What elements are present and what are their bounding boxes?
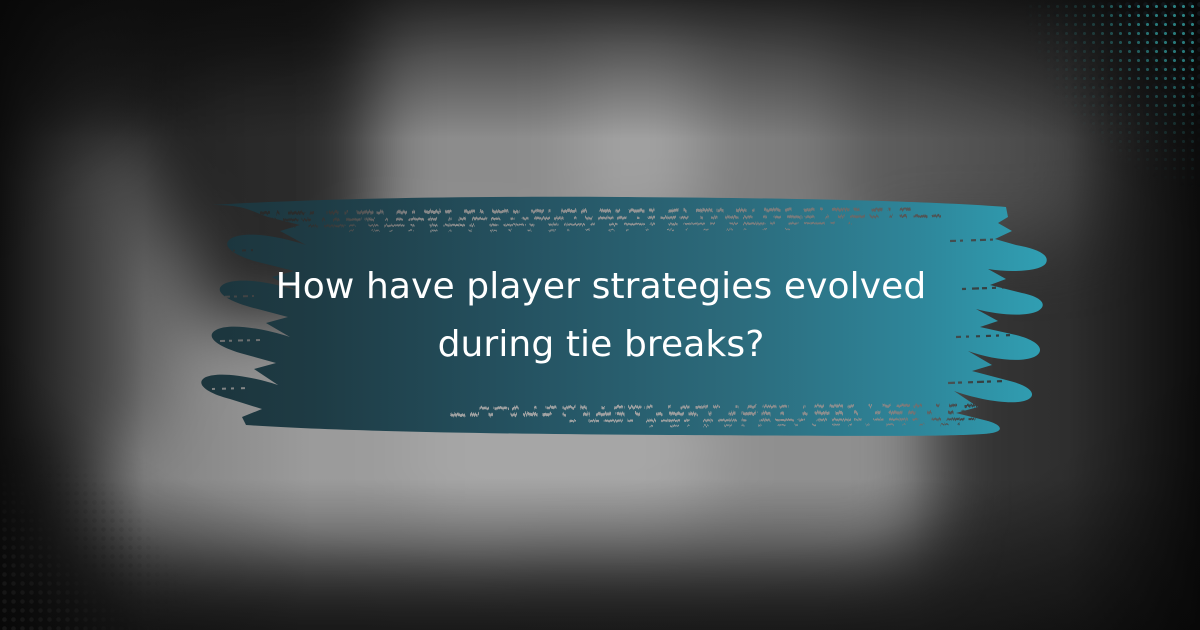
headline-container: How have player strategies evolved durin…: [150, 193, 1052, 439]
social-card: How have player strategies evolved durin…: [0, 0, 1200, 630]
page-title: How have player strategies evolved durin…: [220, 258, 982, 375]
